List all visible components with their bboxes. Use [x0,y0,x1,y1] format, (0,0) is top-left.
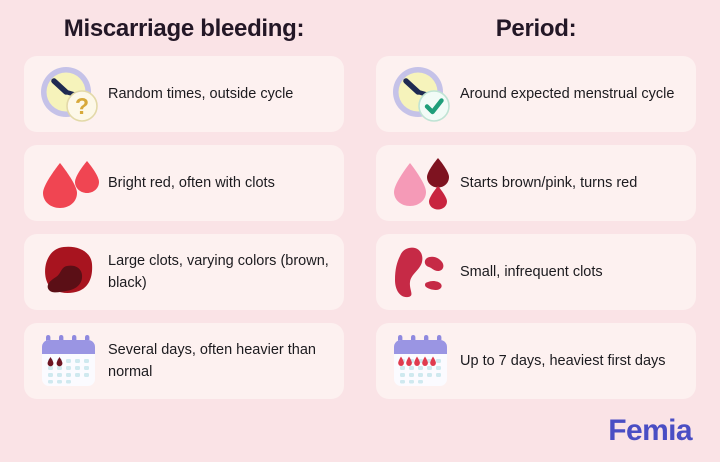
small-clots-icon [386,241,458,303]
comparison-columns: Miscarriage bleeding: ? Random times [0,0,720,399]
card-left-1-text: Random times, outside cycle [106,83,297,105]
calendar-two-drops-icon [34,330,106,392]
card-left-4: Several days, often heavier than normal [24,323,344,399]
calendar-five-drops-icon [386,330,458,392]
card-right-3-text: Small, infrequent clots [458,261,607,283]
blood-drops-bright-red-icon [34,152,106,214]
card-right-1-text: Around expected menstrual cycle [458,83,678,105]
large-clot-dark-icon [34,241,106,303]
card-left-2-text: Bright red, often with clots [106,172,279,194]
card-left-3: Large clots, varying colors (brown, blac… [24,234,344,310]
card-right-3: Small, infrequent clots [376,234,696,310]
card-right-2-text: Starts brown/pink, turns red [458,172,641,194]
card-right-1: Around expected menstrual cycle [376,56,696,132]
card-left-4-text: Several days, often heavier than normal [106,339,334,384]
blood-drops-pink-brown-icon [386,152,458,214]
column-heading-right: Period: [376,16,696,42]
card-left-3-text: Large clots, varying colors (brown, blac… [106,250,334,295]
column-heading-left: Miscarriage bleeding: [24,16,344,42]
card-list-right: Around expected menstrual cycle Starts b… [376,56,696,399]
card-right-4: Up to 7 days, heaviest first days [376,323,696,399]
clock-question-icon: ? [34,63,106,125]
card-right-4-text: Up to 7 days, heaviest first days [458,350,670,372]
infographic-root: Miscarriage bleeding: ? Random times [0,0,720,462]
column-period: Period: Around expected menstrual c [376,0,696,399]
clock-check-icon [386,63,458,125]
femia-logo: Femia [608,416,692,446]
card-left-2: Bright red, often with clots [24,145,344,221]
column-miscarriage-bleeding: Miscarriage bleeding: ? Random times [24,0,344,399]
svg-text:?: ? [75,93,89,119]
card-right-2: Starts brown/pink, turns red [376,145,696,221]
card-left-1: ? Random times, outside cycle [24,56,344,132]
card-list-left: ? Random times, outside cycle Bright red… [24,56,344,399]
